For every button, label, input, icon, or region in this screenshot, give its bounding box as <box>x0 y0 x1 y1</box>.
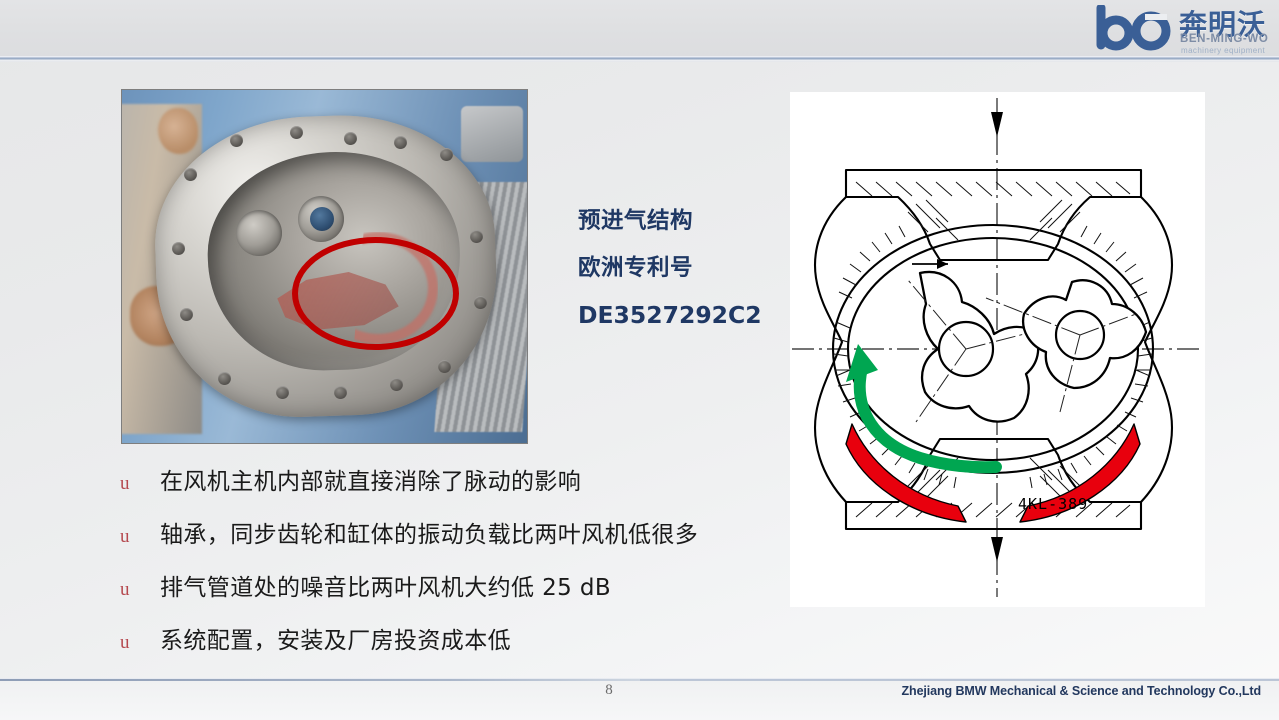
bmw-bo-monogram-icon <box>1095 5 1177 51</box>
outlet-arrow-bottom <box>991 537 1003 562</box>
bullet-text: 系统配置，安装及厂房投资成本低 <box>160 621 511 655</box>
bullet-marker-icon: u <box>120 580 160 599</box>
footer-company-name: Zhejiang BMW Mechanical & Science and Te… <box>902 684 1262 698</box>
bullet-marker-icon: u <box>120 633 160 652</box>
photo-bolt-hole <box>230 134 243 147</box>
photo-shaft-bore <box>310 207 334 231</box>
bullet-marker-icon: u <box>120 527 160 546</box>
photo-bolt-hole <box>394 136 407 149</box>
photo-bolt-hole <box>172 242 185 255</box>
photo-bolt-hole <box>276 386 289 399</box>
photo-content <box>122 90 527 443</box>
photo-shaft-boss-left <box>236 210 282 256</box>
company-logo: 奔明沃 BEN-MING-WO machinery equipment <box>1093 2 1271 58</box>
logo-latin-name: BEN-MING-WO <box>1180 33 1268 45</box>
photo-cooler-top <box>461 106 523 162</box>
photo-bolt-hole <box>180 308 193 321</box>
blower-section-diagram: 4KL-389 <box>790 92 1205 607</box>
casing-top-flange <box>846 170 1141 260</box>
patent-caption: 预进气结构 欧洲专利号 DE3527292C2 <box>578 198 808 339</box>
bullet-text: 轴承，同步齿轮和缸体的振动负载比两叶风机低很多 <box>160 515 698 549</box>
bullet-text: 排气管道处的噪音比两叶风机大约低 25 dB <box>160 568 611 602</box>
bullet-marker-icon: u <box>120 474 160 493</box>
inlet-arrow-top <box>991 112 1003 137</box>
diagram-svg: 4KL-389 <box>790 92 1205 607</box>
list-item: u 轴承，同步齿轮和缸体的振动负载比两叶风机低很多 <box>120 515 740 568</box>
header-band <box>0 0 1279 58</box>
presentation-slide: 奔明沃 BEN-MING-WO machinery equipment <box>0 0 1279 720</box>
logo-tagline: machinery equipment <box>1181 46 1265 55</box>
photo-bolt-hole <box>438 360 451 373</box>
photo-bolt-hole <box>334 386 347 399</box>
red-ellipse-highlight <box>292 237 459 350</box>
photo-bolt-hole <box>344 132 357 145</box>
page-number: 8 <box>596 682 622 699</box>
photo-hand-upper <box>158 108 198 154</box>
caption-line-1: 预进气结构 <box>578 198 808 245</box>
caption-patent-number: DE3527292C2 <box>578 292 808 339</box>
list-item: u 排气管道处的噪音比两叶风机大约低 25 dB <box>120 568 740 621</box>
header-divider-line-secondary <box>0 60 1279 62</box>
caption-line-2: 欧洲专利号 <box>578 245 808 292</box>
photo-bolt-hole <box>470 230 483 243</box>
list-item: u 系统配置，安装及厂房投资成本低 <box>120 621 740 674</box>
photo-bolt-hole <box>218 372 231 385</box>
photo-bolt-hole <box>184 168 197 181</box>
photo-bolt-hole <box>440 148 453 161</box>
bullet-text: 在风机主机内部就直接消除了脉动的影响 <box>160 462 581 496</box>
photo-bolt-hole <box>474 296 487 309</box>
diagram-label: 4KL-389 <box>1018 495 1088 513</box>
blower-casing-photo <box>121 89 528 444</box>
photo-bolt-hole <box>290 126 303 139</box>
photo-bolt-hole <box>390 378 403 391</box>
bullet-list: u 在风机主机内部就直接消除了脉动的影响 u 轴承，同步齿轮和缸体的振动负载比两… <box>120 462 740 674</box>
list-item: u 在风机主机内部就直接消除了脉动的影响 <box>120 462 740 515</box>
